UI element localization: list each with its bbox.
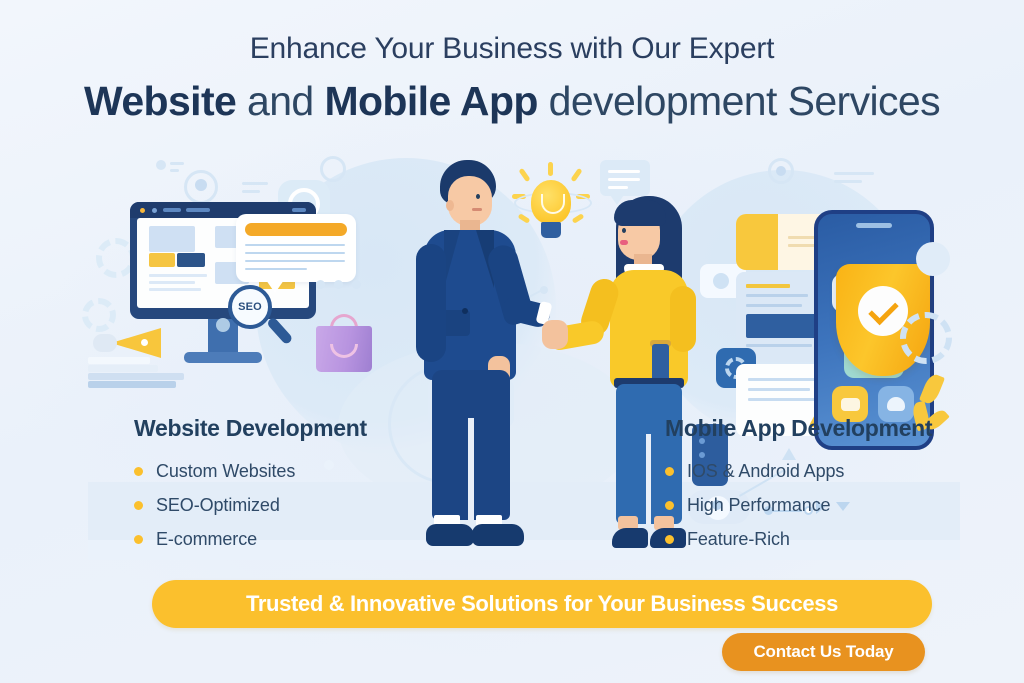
card-line	[746, 294, 808, 297]
promo-banner: Enhance Your Business with Our Expert We…	[0, 0, 1024, 683]
man-mouth	[472, 208, 482, 211]
wireframe-line	[149, 288, 201, 291]
feature-label: E-commerce	[156, 529, 257, 550]
tagline-text: Trusted & Innovative Solutions for Your …	[246, 591, 838, 617]
card-line	[746, 344, 812, 347]
wireframe-line	[149, 281, 195, 284]
gear-faint-icon	[900, 312, 952, 364]
card-line	[746, 284, 790, 288]
man-shoe	[472, 524, 524, 546]
megaphone-cone	[111, 328, 161, 358]
mobile-app-development-column: Mobile App Development IOS & Android App…	[665, 414, 975, 556]
wireframe-dark-block	[177, 253, 205, 267]
bullet-dot-icon	[134, 501, 143, 510]
feature-label: IOS & Android Apps	[687, 461, 844, 482]
headline-emphasis-mobile-app: Mobile App	[324, 78, 537, 124]
man-eye	[476, 194, 480, 199]
bubble-line	[245, 244, 345, 246]
feature-label: High Performance	[687, 495, 830, 516]
card-line	[748, 388, 810, 391]
book	[88, 357, 150, 364]
speech-bubble-icon	[236, 214, 356, 282]
bullet-dot-icon	[134, 535, 143, 544]
gear-faint-icon	[82, 298, 116, 332]
user-head-faint-icon	[776, 166, 786, 176]
megaphone-grip	[93, 334, 117, 352]
wireframe-line	[149, 274, 207, 277]
megaphone-dot	[141, 339, 148, 346]
message-bubble-dot	[713, 273, 729, 289]
bubble-line	[245, 260, 345, 262]
camera-icon	[841, 398, 860, 411]
list-item: Feature-Rich	[665, 522, 975, 556]
bubble-faint-icon	[916, 242, 950, 276]
headline-tail: development Services	[538, 78, 940, 124]
chat-line	[608, 186, 628, 189]
chat-bubble-icon	[600, 160, 650, 196]
man-lapel-left	[444, 230, 460, 288]
feature-label: SEO-Optimized	[156, 495, 280, 516]
headline-emphasis-website: Website	[84, 78, 236, 124]
dot-faint-icon	[316, 280, 325, 289]
magnifier-lens: SEO	[228, 285, 272, 329]
man-leg-gap	[468, 418, 474, 520]
window-dot	[152, 208, 157, 213]
woman-leg-gap	[646, 434, 651, 524]
chat-line	[608, 178, 640, 181]
book-stack-icon	[88, 357, 184, 389]
headline-line-1: Enhance Your Business with Our Expert	[0, 28, 1024, 70]
card-line	[748, 378, 822, 381]
window-dot	[163, 208, 181, 212]
card-accent-panel	[736, 214, 778, 270]
woman-bangs	[614, 200, 666, 226]
line-faint-icon	[834, 180, 862, 183]
dot-faint-icon	[156, 160, 166, 170]
woman-eye	[622, 228, 626, 233]
website-feature-list: Custom Websites SEO-Optimized E-commerce	[134, 454, 434, 556]
list-item: E-commerce	[134, 522, 434, 556]
line-faint-icon	[834, 172, 874, 175]
window-dot	[140, 208, 145, 213]
shopping-bag-icon	[316, 314, 372, 372]
card-line	[748, 398, 818, 401]
website-development-column: Website Development Custom Websites SEO-…	[134, 414, 434, 556]
column-title-website: Website Development	[134, 414, 434, 442]
seo-badge-label: SEO	[238, 301, 262, 313]
heart-icon	[887, 397, 905, 411]
woman-hand-right	[542, 320, 568, 349]
user-head-faint-icon	[195, 179, 207, 191]
line-faint-icon	[170, 162, 184, 165]
line-faint-icon	[242, 190, 260, 193]
phone-speaker-notch	[856, 223, 892, 228]
list-item: SEO-Optimized	[134, 488, 434, 522]
line-faint-icon	[170, 169, 179, 172]
mobile-feature-list: IOS & Android Apps High Performance Feat…	[665, 454, 975, 556]
dot-faint-icon	[334, 280, 343, 289]
light-ray	[572, 213, 585, 224]
bullet-dot-icon	[665, 501, 674, 510]
woman-heel-shoe	[612, 528, 648, 548]
window-dot	[292, 208, 306, 212]
bullet-dot-icon	[665, 535, 674, 544]
woman-arm-left	[670, 286, 696, 352]
at-symbol-ring-icon	[320, 156, 346, 182]
bulb-base	[541, 222, 561, 238]
list-item: Custom Websites	[134, 454, 434, 488]
card-line	[746, 304, 802, 307]
man-ear	[446, 200, 454, 211]
wireframe-accent-block	[149, 253, 175, 267]
card-line	[788, 244, 816, 247]
bullet-dot-icon	[665, 467, 674, 476]
page-title: Enhance Your Business with Our Expert We…	[0, 28, 1024, 130]
dot-faint-icon	[352, 280, 361, 289]
light-ray	[548, 162, 553, 176]
list-item: IOS & Android Apps	[665, 454, 975, 488]
card-image-block	[746, 314, 822, 338]
bubble-line	[245, 252, 345, 254]
magnifier-handle	[266, 316, 294, 345]
megaphone-icon	[93, 328, 171, 358]
book	[88, 365, 158, 372]
man-jacket-button	[462, 308, 468, 314]
window-dot	[186, 208, 210, 212]
list-item: High Performance	[665, 488, 975, 522]
bullet-dot-icon	[134, 467, 143, 476]
headline-line-2: Website and Mobile App development Servi…	[0, 72, 1024, 130]
tagline-banner: Trusted & Innovative Solutions for Your …	[152, 580, 932, 628]
contact-us-button-label: Contact Us Today	[753, 642, 893, 662]
man-arm-left	[416, 244, 446, 362]
headline-conjunction: and	[236, 78, 324, 124]
line-faint-icon	[242, 182, 268, 185]
magnifier-seo-icon: SEO	[228, 285, 300, 357]
feature-label: Custom Websites	[156, 461, 295, 482]
bubble-header-bar	[245, 223, 347, 236]
wireframe-block	[149, 226, 195, 252]
chat-line	[608, 170, 640, 173]
monitor-knob	[216, 318, 230, 332]
book	[88, 373, 184, 380]
bubble-line	[245, 268, 307, 270]
column-title-mobile-app: Mobile App Development	[665, 414, 975, 442]
book	[88, 381, 176, 388]
feature-label: Feature-Rich	[687, 529, 790, 550]
woman-lips	[620, 240, 628, 245]
light-ray	[570, 168, 582, 182]
contact-us-button[interactable]: Contact Us Today	[722, 633, 925, 671]
man-face	[448, 176, 492, 226]
